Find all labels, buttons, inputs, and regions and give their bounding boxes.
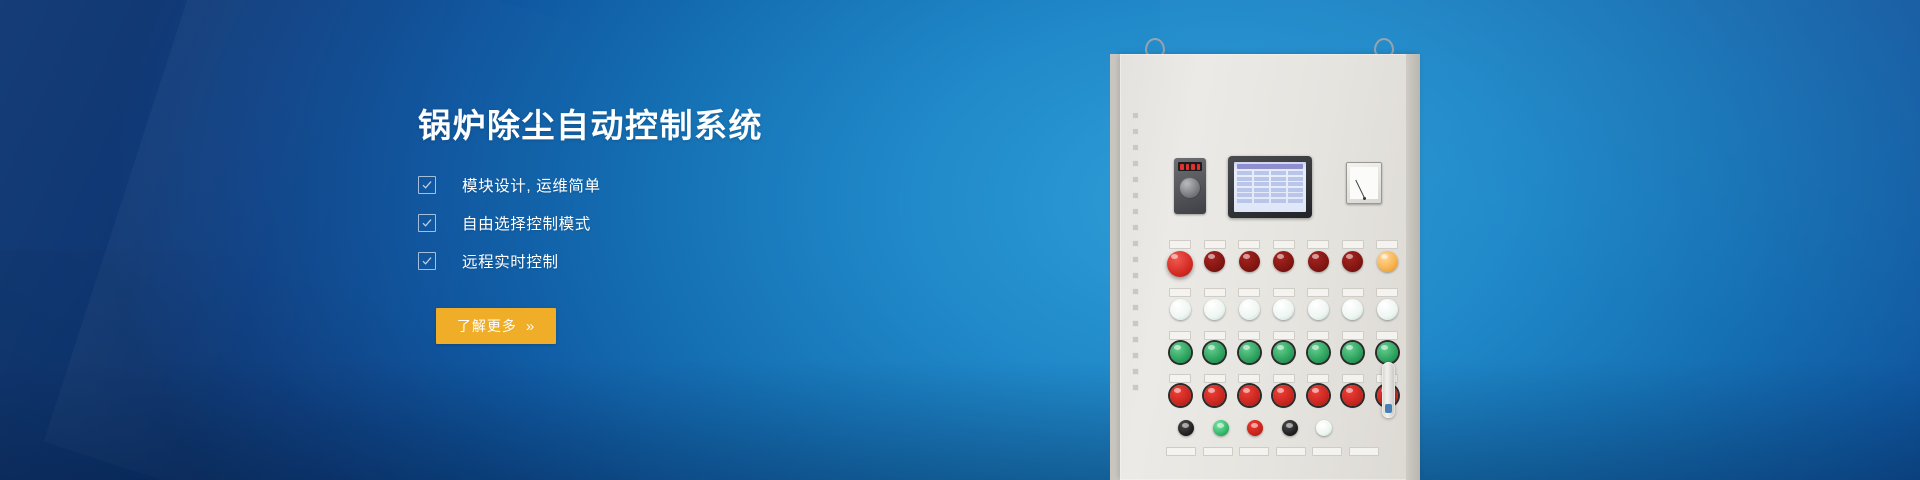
white-indicator-row (1166, 288, 1416, 320)
alarm-lamp[interactable] (1342, 251, 1363, 272)
stop-button[interactable] (1170, 385, 1191, 406)
digital-temperature-controller[interactable] (1174, 158, 1206, 214)
emergency-stop-button[interactable] (1167, 251, 1193, 277)
selector-switch-row (1172, 417, 1416, 436)
control-cabinet-image (1110, 0, 1530, 480)
list-item: 模块设计, 运维简单 (418, 174, 938, 196)
start-button[interactable] (1273, 342, 1294, 363)
start-button[interactable] (1239, 342, 1260, 363)
feature-label: 模块设计, 运维简单 (462, 174, 601, 196)
checkbox-check-icon (418, 176, 436, 194)
cabinet-hinge-strip (1132, 112, 1139, 412)
stop-button[interactable] (1342, 385, 1363, 406)
start-button[interactable] (1308, 342, 1329, 363)
feature-label: 远程实时控制 (462, 250, 559, 272)
stop-button[interactable] (1239, 385, 1260, 406)
checkbox-check-icon (418, 214, 436, 232)
selector-switch[interactable] (1282, 420, 1298, 436)
selector-switch[interactable] (1178, 420, 1194, 436)
feature-label: 自由选择控制模式 (462, 212, 591, 234)
chevron-right-double-icon: » (526, 319, 535, 334)
cabinet-door-handle[interactable] (1382, 362, 1395, 418)
learn-more-button[interactable]: 了解更多 » (436, 308, 556, 344)
hmi-screen-content (1234, 162, 1306, 212)
start-button[interactable] (1342, 342, 1363, 363)
power-indicator-lamp[interactable] (1239, 299, 1260, 320)
feature-list: 模块设计, 运维简单 自由选择控制模式 远程实时控制 (418, 174, 938, 272)
background-facet-left (0, 0, 460, 480)
background-vignette-bottom (0, 360, 1920, 480)
start-button[interactable] (1377, 342, 1398, 363)
red-stop-button-row (1166, 374, 1416, 406)
stop-button[interactable] (1273, 385, 1294, 406)
bottom-label-strip (1166, 447, 1416, 456)
power-indicator-lamp[interactable] (1204, 299, 1225, 320)
emergency-stop-and-alarm-row (1166, 240, 1416, 277)
stop-button[interactable] (1308, 385, 1329, 406)
list-item: 自由选择控制模式 (418, 212, 938, 234)
lock-icon (1385, 404, 1392, 413)
cabinet-right-edge (1406, 54, 1420, 480)
seven-segment-display (1178, 162, 1202, 171)
power-indicator-lamp[interactable] (1273, 299, 1294, 320)
alarm-lamp[interactable] (1273, 251, 1294, 272)
alarm-lamp[interactable] (1204, 251, 1225, 272)
hmi-touch-screen[interactable] (1228, 156, 1312, 218)
warning-lamp[interactable] (1377, 251, 1398, 272)
indicator-lamp-grid (1166, 240, 1416, 456)
selector-switch[interactable] (1316, 420, 1332, 436)
hero-copy-block: 锅炉除尘自动控制系统 模块设计, 运维简单 自由选择控制模式 远程实时控制 (418, 104, 938, 344)
selector-switch[interactable] (1247, 420, 1263, 436)
analog-ammeter (1346, 162, 1382, 204)
power-indicator-lamp[interactable] (1308, 299, 1329, 320)
rotary-knob-icon[interactable] (1179, 177, 1201, 199)
instrument-row (1174, 158, 1414, 216)
start-button[interactable] (1170, 342, 1191, 363)
green-start-button-row (1166, 331, 1416, 363)
stop-button[interactable] (1204, 385, 1225, 406)
list-item: 远程实时控制 (418, 250, 938, 272)
selector-switch[interactable] (1213, 420, 1229, 436)
cabinet-door-panel (1120, 54, 1420, 480)
page-title: 锅炉除尘自动控制系统 (418, 104, 938, 148)
checkbox-check-icon (418, 252, 436, 270)
alarm-lamp[interactable] (1308, 251, 1329, 272)
alarm-lamp[interactable] (1239, 251, 1260, 272)
start-button[interactable] (1204, 342, 1225, 363)
power-indicator-lamp[interactable] (1170, 299, 1191, 320)
power-indicator-lamp[interactable] (1377, 299, 1398, 320)
power-indicator-lamp[interactable] (1342, 299, 1363, 320)
learn-more-label: 了解更多 (457, 316, 517, 336)
hero-banner: 锅炉除尘自动控制系统 模块设计, 运维简单 自由选择控制模式 远程实时控制 (0, 0, 1920, 480)
